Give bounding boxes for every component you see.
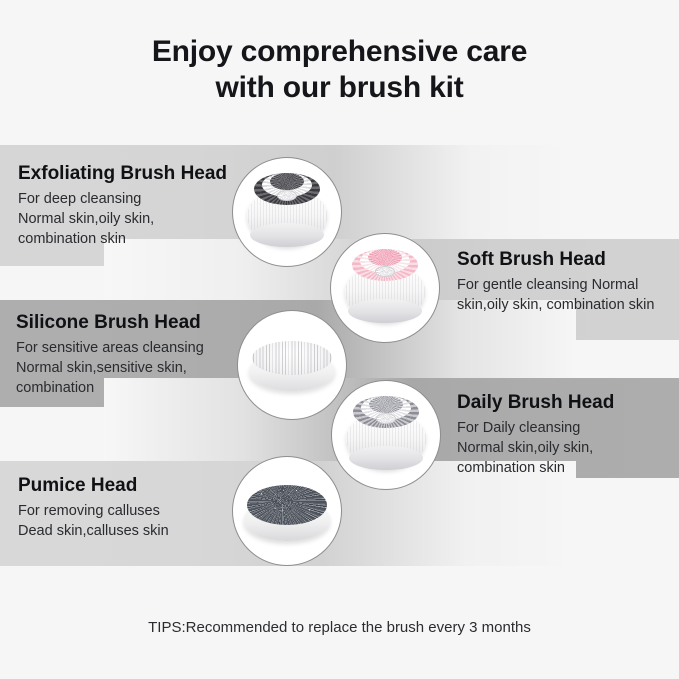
brush-hub xyxy=(376,413,396,424)
product-text-exfoliating: Exfoliating Brush Head For deep cleansin… xyxy=(18,162,227,249)
silicone-head-icon xyxy=(249,341,335,393)
product-desc-line: combination skin xyxy=(457,458,614,478)
soft-brush-head-photo xyxy=(330,233,440,343)
exfoliating-brush-head-photo xyxy=(232,157,342,267)
daily-brush-head-photo xyxy=(331,380,441,490)
product-desc-line: For deep cleansing xyxy=(18,189,227,209)
brush-rim xyxy=(348,299,422,323)
brush-rim xyxy=(349,446,423,470)
product-name-exfoliating: Exfoliating Brush Head xyxy=(18,162,227,186)
product-desc-line: For sensitive areas cleansing xyxy=(16,338,204,358)
product-name-pumice: Pumice Head xyxy=(18,474,169,498)
pumice-stone xyxy=(247,485,327,525)
brush-head-icon xyxy=(343,249,427,327)
brush-ring-inner xyxy=(369,396,403,413)
product-name-daily: Daily Brush Head xyxy=(457,391,614,415)
brush-illustration xyxy=(331,234,439,342)
product-desc-line: For Daily cleansing xyxy=(457,418,614,438)
product-desc-line: combination skin xyxy=(18,229,227,249)
silicone-bristles xyxy=(252,341,332,375)
silicone-illustration xyxy=(238,311,346,419)
brush-illustration xyxy=(233,158,341,266)
product-desc-line: combination xyxy=(16,378,204,398)
page-title: Enjoy comprehensive care with our brush … xyxy=(0,34,679,106)
brush-illustration xyxy=(332,381,440,489)
product-text-daily: Daily Brush Head For Daily cleansing Nor… xyxy=(457,391,614,478)
product-desc-line: Normal skin,oily skin, xyxy=(18,209,227,229)
silicone-brush-head-photo xyxy=(237,310,347,420)
pumice-head-icon xyxy=(244,485,330,541)
product-name-soft: Soft Brush Head xyxy=(457,248,654,272)
product-desc-line: For gentle cleansing Normal xyxy=(457,275,654,295)
product-desc-line: For removing calluses xyxy=(18,501,169,521)
pumice-illustration xyxy=(233,457,341,565)
brush-rim xyxy=(250,223,324,247)
product-infographic: Enjoy comprehensive care with our brush … xyxy=(0,0,679,679)
pumice-head-photo xyxy=(232,456,342,566)
footer-tip: TIPS:Recommended to replace the brush ev… xyxy=(0,618,679,638)
product-name-silicone: Silicone Brush Head xyxy=(16,311,204,335)
product-text-silicone: Silicone Brush Head For sensitive areas … xyxy=(16,311,204,398)
product-desc-line: Normal skin,oily skin, xyxy=(457,438,614,458)
product-desc-line: Dead skin,calluses skin xyxy=(18,521,169,541)
brush-head-icon xyxy=(245,173,329,251)
brush-ring-inner xyxy=(270,173,304,190)
page-title-line-1: Enjoy comprehensive care xyxy=(152,35,527,68)
brush-ring-inner xyxy=(368,249,402,266)
product-desc-line: skin,oily skin, combination skin xyxy=(457,295,654,315)
product-text-soft: Soft Brush Head For gentle cleansing Nor… xyxy=(457,248,654,315)
page-title-line-2: with our brush kit xyxy=(0,70,679,106)
brush-head-icon xyxy=(344,396,428,474)
product-desc-line: Normal skin,sensitive skin, xyxy=(16,358,204,378)
brush-hub xyxy=(277,190,297,201)
brush-hub xyxy=(375,266,395,277)
product-text-pumice: Pumice Head For removing calluses Dead s… xyxy=(18,474,169,541)
